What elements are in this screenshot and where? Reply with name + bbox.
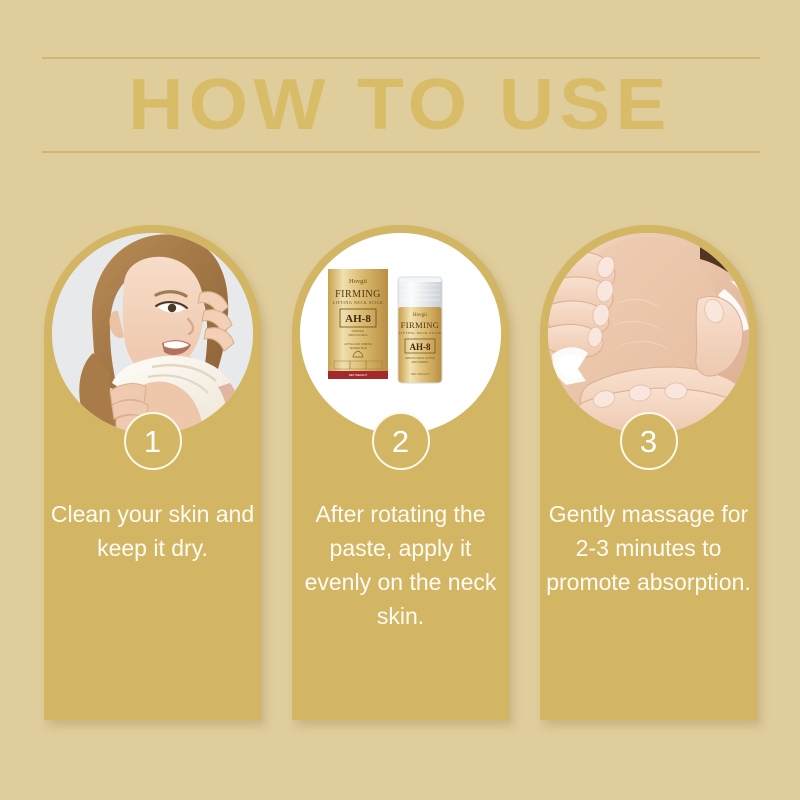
svg-text:Hovgii: Hovgii: [349, 278, 367, 285]
step-number-2: 2: [392, 426, 409, 457]
svg-text:SMOOTH NECK: SMOOTH NECK: [348, 333, 368, 337]
svg-text:AH-8: AH-8: [345, 313, 371, 325]
svg-text:FIRMING: FIRMING: [401, 320, 440, 330]
step-caption-3: Gently massage for 2-3 minutes to promot…: [546, 497, 751, 599]
step-caption-1: Clean your skin and keep it dry.: [50, 497, 255, 565]
svg-text:AH-8: AH-8: [410, 342, 431, 352]
step-number-badge-2: 2: [372, 412, 430, 470]
step-number-3: 3: [640, 426, 657, 457]
svg-text:NET.WEIGHT: NET.WEIGHT: [411, 372, 430, 376]
step-card-1: 1 Clean your skin and keep it dry.: [44, 225, 261, 720]
svg-text:Hovgii: Hovgii: [413, 313, 428, 318]
svg-text:FIRMING: FIRMING: [335, 289, 381, 300]
svg-text:LIFTING AND FIRMING: LIFTING AND FIRMING: [344, 342, 372, 346]
svg-text:LIFTING NECK STICK: LIFTING NECK STICK: [333, 300, 384, 305]
page-title: HOW TO USE: [0, 62, 800, 148]
step-1-photo: [52, 233, 253, 434]
step-card-3: 3 Gently massage for 2-3 minutes to prom…: [540, 225, 757, 720]
step-2-photo: Hovgii FIRMING LIFTING NECK STICK AH-8 F…: [300, 233, 501, 434]
title-rule-bottom: [42, 151, 760, 153]
svg-text:AND FIRMING: AND FIRMING: [411, 360, 428, 364]
svg-text:LIFTING NECK STICK: LIFTING NECK STICK: [399, 331, 442, 335]
step-card-2: Hovgii FIRMING LIFTING NECK STICK AH-8 F…: [292, 225, 509, 720]
how-to-use-infographic: HOW TO USE: [0, 0, 800, 800]
svg-text:SMOOTH NECK LIFTING: SMOOTH NECK LIFTING: [405, 356, 435, 360]
svg-text:FIRMING: FIRMING: [352, 329, 365, 333]
step-number-1: 1: [144, 426, 161, 457]
step-3-photo: [548, 233, 749, 434]
step-caption-2: After rotating the paste, apply it evenl…: [298, 497, 503, 633]
step-number-badge-1: 1: [124, 412, 182, 470]
title-rule-top: [42, 57, 760, 59]
svg-text:TENDER SKIN: TENDER SKIN: [349, 346, 367, 350]
svg-text:NET.WEIGHT: NET.WEIGHT: [349, 373, 368, 377]
step-number-badge-3: 3: [620, 412, 678, 470]
